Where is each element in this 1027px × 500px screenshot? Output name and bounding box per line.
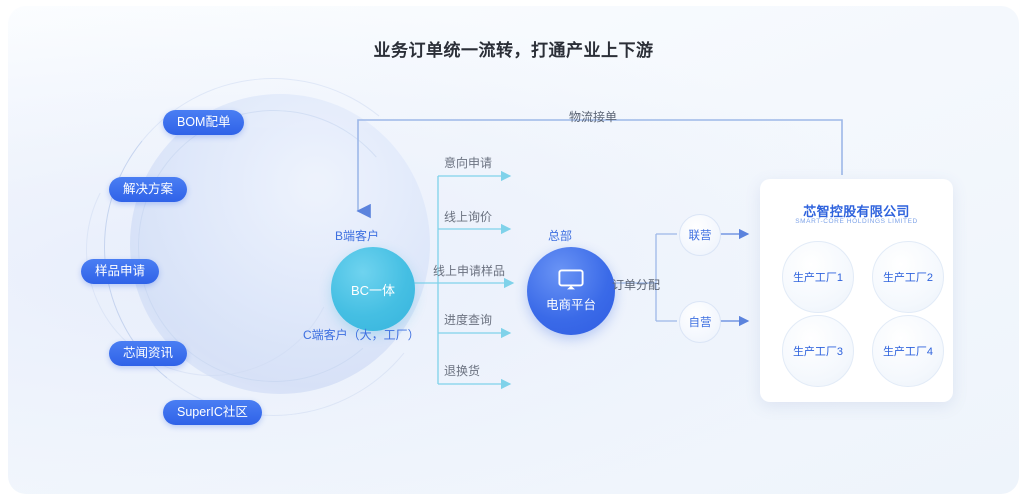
factory-circle-2[interactable]: 生产工厂2: [872, 241, 944, 313]
customer-circle-label: BC一体: [351, 280, 395, 299]
channel-circle-joint[interactable]: 联营: [679, 214, 721, 256]
channel-circle-self[interactable]: 自营: [679, 301, 721, 343]
factory-label-1: 生产工厂1: [793, 269, 843, 285]
feature-pill-sample[interactable]: 样品申请: [81, 259, 159, 284]
factory-label-4: 生产工厂4: [883, 343, 933, 359]
diagram-card: 业务订单统一流转，打通产业上下游: [8, 6, 1019, 494]
flow-label-intent: 意向申请: [444, 154, 492, 171]
feature-pill-bom[interactable]: BOM配单: [163, 110, 244, 135]
flow-label-sample: 线上申请样品: [433, 262, 505, 279]
factory-label-2: 生产工厂2: [883, 269, 933, 285]
customer-circle[interactable]: BC一体: [331, 247, 415, 331]
feature-pill-community[interactable]: SuperIC社区: [163, 400, 262, 425]
channel-label-joint: 联营: [689, 227, 712, 243]
platform-circle-label: 电商平台: [546, 294, 596, 313]
factory-label-3: 生产工厂3: [793, 343, 843, 359]
factory-circle-3[interactable]: 生产工厂3: [782, 315, 854, 387]
diagram-stage: 业务订单统一流转，打通产业上下游: [0, 0, 1027, 500]
company-card: 芯智控股有限公司 SMART-CORE HOLDINGS LIMITED 生产工…: [760, 179, 953, 402]
feature-pill-news[interactable]: 芯闻资讯: [109, 341, 187, 366]
flow-label-progress: 进度查询: [444, 311, 492, 328]
platform-top-label: 总部: [548, 227, 572, 244]
factory-circle-1[interactable]: 生产工厂1: [782, 241, 854, 313]
channel-label-self: 自营: [689, 314, 712, 330]
logistics-label: 物流接单: [569, 108, 617, 125]
platform-circle[interactable]: 电商平台: [527, 247, 615, 335]
factory-circle-4[interactable]: 生产工厂4: [872, 315, 944, 387]
flow-label-return: 退换货: [444, 362, 480, 379]
monitor-icon: [558, 269, 584, 291]
feature-pill-solution[interactable]: 解决方案: [109, 177, 187, 202]
customer-bottom-label: C端客户（大，工厂）: [303, 326, 420, 343]
customer-top-label: B端客户: [335, 227, 379, 244]
flow-label-inquiry: 线上询价: [444, 208, 492, 225]
company-subtitle: SMART-CORE HOLDINGS LIMITED: [760, 218, 953, 225]
distribution-label: 订单分配: [612, 276, 660, 293]
